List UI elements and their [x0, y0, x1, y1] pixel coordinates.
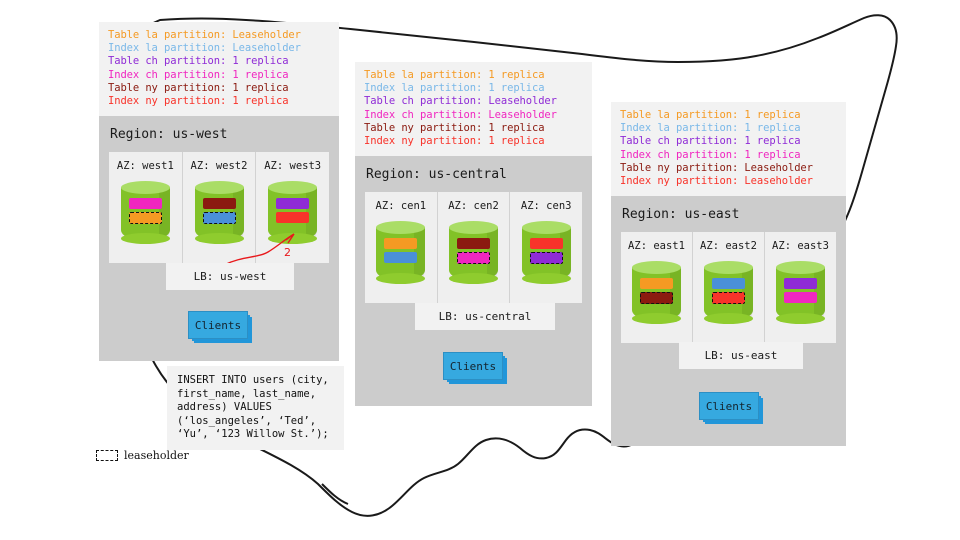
partition-status-line: Table la partition: Leaseholder — [108, 29, 330, 42]
database-node-icon[interactable] — [776, 261, 825, 327]
partition-status-line: Table ch partition: 1 replica — [620, 135, 837, 148]
range-replica[interactable] — [384, 252, 417, 263]
node-base — [632, 313, 681, 324]
az-label: AZ: cen2 — [448, 200, 499, 212]
partition-status-line: Table ch partition: Leaseholder — [364, 95, 583, 108]
range-leaseholder[interactable] — [530, 252, 563, 264]
node-base — [449, 273, 498, 284]
range-stack — [522, 238, 571, 267]
clients-label[interactable]: Clients — [188, 311, 248, 339]
partition-status-line: Table ny partition: Leaseholder — [620, 162, 837, 175]
partition-status-line: Index ch partition: 1 replica — [108, 69, 330, 82]
range-replica[interactable] — [129, 198, 162, 209]
az-cell-cen3[interactable]: AZ: cen3 — [510, 192, 582, 303]
range-stack — [376, 238, 425, 266]
partition-status-line: Index ny partition: 1 replica — [108, 95, 330, 108]
az-label: AZ: west3 — [264, 160, 321, 172]
node-top — [195, 181, 244, 194]
partition-status-line: Table la partition: 1 replica — [620, 109, 837, 122]
az-cell-east1[interactable]: AZ: east1 — [621, 232, 693, 343]
load-balancer-us-west[interactable]: LB: us-west — [166, 263, 294, 290]
partition-status-box-us-central: Table la partition: 1 replicaIndex la pa… — [355, 62, 592, 156]
partition-status-line: Index la partition: 1 replica — [620, 122, 837, 135]
range-replica[interactable] — [640, 278, 673, 289]
partition-status-line: Index ch partition: Leaseholder — [364, 109, 583, 122]
node-base — [376, 273, 425, 284]
range-replica[interactable] — [457, 238, 490, 249]
clients-button-us-east[interactable]: Clients — [699, 392, 759, 420]
database-node-icon[interactable] — [268, 181, 317, 247]
az-label: AZ: west2 — [191, 160, 248, 172]
node-base — [268, 233, 317, 244]
database-node-icon[interactable] — [522, 221, 571, 287]
range-stack — [268, 198, 317, 226]
az-row-us-central: AZ: cen1AZ: cen2AZ: cen3 — [365, 192, 582, 303]
region-title-us-central: Region: us-central — [355, 156, 592, 182]
node-base — [522, 273, 571, 284]
range-replica[interactable] — [276, 212, 309, 223]
clients-button-us-west[interactable]: Clients — [188, 311, 248, 339]
region-title-us-west: Region: us-west — [99, 116, 339, 142]
leaseholder-swatch-icon — [96, 450, 118, 461]
az-cell-west3[interactable]: AZ: west3 — [256, 152, 329, 263]
load-balancer-us-east[interactable]: LB: us-east — [679, 342, 803, 369]
az-cell-cen1[interactable]: AZ: cen1 — [365, 192, 438, 303]
database-node-icon[interactable] — [195, 181, 244, 247]
az-label: AZ: cen1 — [376, 200, 427, 212]
range-replica[interactable] — [784, 278, 817, 289]
database-node-icon[interactable] — [121, 181, 170, 247]
range-stack — [632, 278, 681, 307]
node-base — [195, 233, 244, 244]
partition-status-line: Index la partition: Leaseholder — [108, 42, 330, 55]
partition-status-line: Index ny partition: 1 replica — [364, 135, 583, 148]
annotation-step-2-label: 2 — [284, 246, 291, 259]
az-row-us-east: AZ: east1AZ: east2AZ: east3 — [621, 232, 836, 343]
node-base — [704, 313, 753, 324]
partition-status-line: Table ny partition: 1 replica — [108, 82, 330, 95]
range-stack — [704, 278, 753, 307]
range-replica[interactable] — [276, 198, 309, 209]
range-stack — [121, 198, 170, 227]
az-cell-east2[interactable]: AZ: east2 — [693, 232, 765, 343]
range-stack — [449, 238, 498, 267]
sql-insert-note: INSERT INTO users (city, first_name, las… — [167, 366, 344, 450]
clients-label[interactable]: Clients — [443, 352, 503, 380]
node-base — [776, 313, 825, 324]
region-title-us-east: Region: us-east — [611, 196, 846, 222]
range-stack — [195, 198, 244, 227]
load-balancer-us-central[interactable]: LB: us-central — [415, 303, 555, 330]
az-label: AZ: east2 — [700, 240, 757, 252]
partition-status-line: Index la partition: 1 replica — [364, 82, 583, 95]
az-row-us-west: AZ: west1AZ: west2AZ: west3 — [109, 152, 329, 263]
partition-status-line: Table ch partition: 1 replica — [108, 55, 330, 68]
az-label: AZ: west1 — [117, 160, 174, 172]
range-replica[interactable] — [203, 198, 236, 209]
database-node-icon[interactable] — [376, 221, 425, 287]
range-replica[interactable] — [530, 238, 563, 249]
az-label: AZ: cen3 — [521, 200, 572, 212]
range-leaseholder[interactable] — [457, 252, 490, 264]
database-node-icon[interactable] — [704, 261, 753, 327]
partition-status-line: Index ch partition: 1 replica — [620, 149, 837, 162]
partition-status-box-us-west: Table la partition: LeaseholderIndex la … — [99, 22, 339, 116]
partition-status-line: Index ny partition: Leaseholder — [620, 175, 837, 188]
range-replica[interactable] — [712, 278, 745, 289]
range-leaseholder[interactable] — [203, 212, 236, 224]
leaseholder-legend-key: leaseholder — [96, 449, 189, 462]
az-cell-east3[interactable]: AZ: east3 — [765, 232, 836, 343]
partition-status-line: Table ny partition: 1 replica — [364, 122, 583, 135]
range-leaseholder[interactable] — [129, 212, 162, 224]
range-leaseholder[interactable] — [640, 292, 673, 304]
az-label: AZ: east3 — [772, 240, 829, 252]
diagram-canvas: Table la partition: LeaseholderIndex la … — [0, 0, 960, 540]
az-cell-west2[interactable]: AZ: west2 — [183, 152, 257, 263]
range-replica[interactable] — [384, 238, 417, 249]
az-cell-west1[interactable]: AZ: west1 — [109, 152, 183, 263]
leaseholder-legend-label: leaseholder — [124, 449, 189, 462]
clients-label[interactable]: Clients — [699, 392, 759, 420]
node-base — [121, 233, 170, 244]
az-cell-cen2[interactable]: AZ: cen2 — [438, 192, 511, 303]
partition-status-line: Table la partition: 1 replica — [364, 69, 583, 82]
range-replica[interactable] — [784, 292, 817, 303]
database-node-icon[interactable] — [449, 221, 498, 287]
database-node-icon[interactable] — [632, 261, 681, 327]
clients-button-us-central[interactable]: Clients — [443, 352, 503, 380]
az-label: AZ: east1 — [628, 240, 685, 252]
range-leaseholder[interactable] — [712, 292, 745, 304]
partition-status-box-us-east: Table la partition: 1 replicaIndex la pa… — [611, 102, 846, 196]
range-stack — [776, 278, 825, 306]
